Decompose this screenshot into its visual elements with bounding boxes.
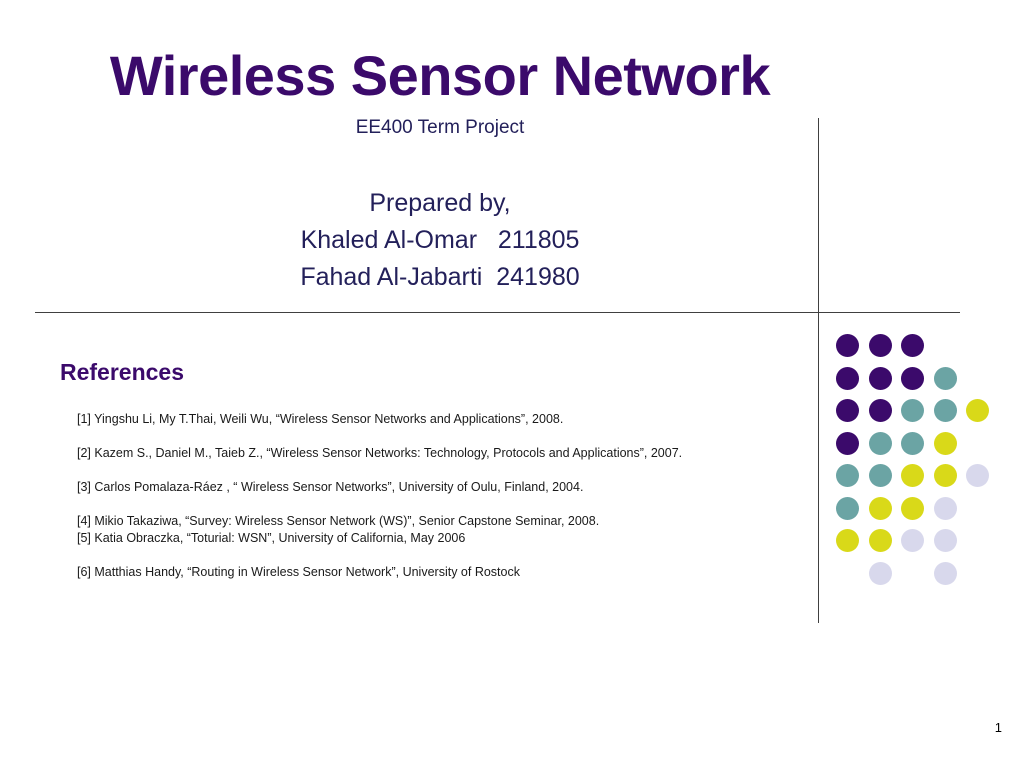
dot-purple <box>869 334 892 357</box>
prepared-by-label: Prepared by, <box>0 185 880 222</box>
dot-purple <box>836 367 859 390</box>
dot-purple <box>901 367 924 390</box>
page-subtitle: EE400 Term Project <box>0 117 880 139</box>
dot-lavender <box>934 562 957 585</box>
reference-item-1: [1] Yingshu Li, My T.Thai, Weili Wu, “Wi… <box>77 411 797 428</box>
reference-item-6: [6] Matthias Handy, “Routing in Wireless… <box>77 564 797 581</box>
dot-teal <box>869 432 892 455</box>
dot-lavender <box>966 464 989 487</box>
dot-yellow <box>901 464 924 487</box>
dot-yellow <box>934 464 957 487</box>
references-heading: References <box>60 359 184 386</box>
dot-teal <box>901 432 924 455</box>
reference-item-2: [2] Kazem S., Daniel M., Taieb Z., “Wire… <box>77 445 797 462</box>
reference-item-5: [5] Katia Obraczka, “Toturial: WSN”, Uni… <box>77 530 797 547</box>
dot-purple <box>836 432 859 455</box>
dot-yellow <box>934 432 957 455</box>
dot-purple <box>836 399 859 422</box>
dot-teal <box>836 464 859 487</box>
dot-teal <box>836 497 859 520</box>
dot-yellow <box>836 529 859 552</box>
dot-yellow <box>966 399 989 422</box>
references-list: [1] Yingshu Li, My T.Thai, Weili Wu, “Wi… <box>77 411 797 581</box>
dot-teal <box>934 367 957 390</box>
vertical-divider <box>818 118 819 623</box>
author-khaled-al-omar: Khaled Al-Omar 211805 <box>0 222 880 259</box>
horizontal-divider <box>35 312 960 313</box>
dot-lavender <box>934 497 957 520</box>
dot-purple <box>836 334 859 357</box>
dot-lavender <box>869 562 892 585</box>
reference-item-3: [3] Carlos Pomalaza-Ráez , “ Wireless Se… <box>77 479 797 496</box>
page-number: 1 <box>995 720 1002 735</box>
dot-purple <box>869 367 892 390</box>
dot-teal <box>934 399 957 422</box>
dot-yellow <box>901 497 924 520</box>
page-title: Wireless Sensor Network <box>0 47 880 106</box>
reference-item-4: [4] Mikio Takaziwa, “Survey: Wireless Se… <box>77 513 797 530</box>
dot-purple <box>901 334 924 357</box>
dot-teal <box>901 399 924 422</box>
dot-yellow <box>869 497 892 520</box>
dot-lavender <box>934 529 957 552</box>
dot-teal <box>869 464 892 487</box>
dot-lavender <box>901 529 924 552</box>
dot-yellow <box>869 529 892 552</box>
dot-purple <box>869 399 892 422</box>
prepared-by-block: Prepared by, Khaled Al-Omar 211805 Fahad… <box>0 185 880 296</box>
slide-canvas: Wireless Sensor Network EE400 Term Proje… <box>0 0 1024 768</box>
author-fahad-al-jabarti: Fahad Al-Jabarti 241980 <box>0 259 880 296</box>
